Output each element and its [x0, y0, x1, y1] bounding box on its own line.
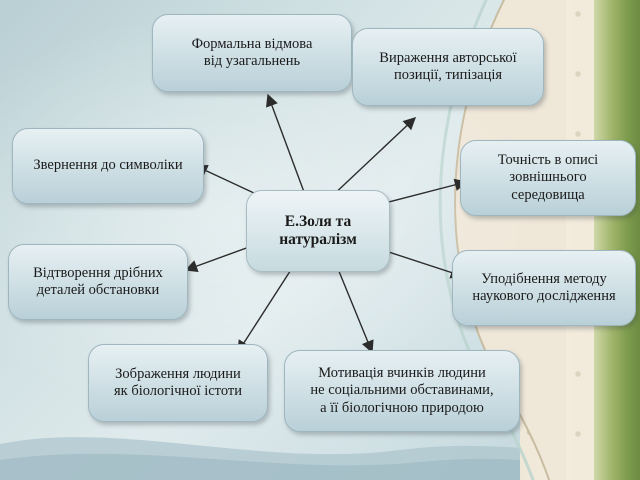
- node-vidtvorennya-dribnyh-detalej[interactable]: Відтворення дрібних деталей обстановки: [8, 244, 188, 320]
- node-label: Мотивація вчинків людини не соціальними …: [310, 365, 493, 416]
- node-formalna-vidmova[interactable]: Формальна відмова від узагальнень: [152, 14, 352, 92]
- connector-center-to-n7: [238, 262, 296, 352]
- connector-center-to-n1: [268, 95, 307, 200]
- node-label: Формальна відмова від узагальнень: [192, 36, 313, 70]
- node-label: Вираження авторської позиції, типізація: [379, 50, 516, 84]
- center-node[interactable]: Е.Золя та натуралізм: [246, 190, 390, 272]
- node-tochnist-v-opysi[interactable]: Точність в описі зовнішнього середовища: [460, 140, 636, 216]
- connector-center-to-n8: [336, 264, 372, 352]
- node-label: Точність в описі зовнішнього середовища: [471, 152, 625, 203]
- node-zvernennya-do-symvoliky[interactable]: Звернення до символіки: [12, 128, 204, 204]
- node-upodibnennya-metodu[interactable]: Уподібнення методу наукового дослідження: [452, 250, 636, 326]
- node-label: Звернення до символіки: [33, 157, 182, 174]
- node-label: Зображення людини як біологічної істоти: [114, 366, 242, 400]
- center-node-label: Е.Золя та натуралізм: [279, 213, 357, 250]
- node-motyvaciya-vchynkiv[interactable]: Мотивація вчинків людини не соціальними …: [284, 350, 520, 432]
- node-virazhennya-avtorskoyi-poziciyi[interactable]: Вираження авторської позиції, типізація: [352, 28, 544, 106]
- node-label: Уподібнення методу наукового дослідження: [472, 271, 615, 305]
- connector-center-to-n2: [330, 118, 415, 198]
- slide-canvas: Е.Золя та натуралізм Формальна відмова в…: [0, 0, 640, 480]
- node-zobrazhennya-ludyny[interactable]: Зображення людини як біологічної істоти: [88, 344, 268, 422]
- node-label: Відтворення дрібних деталей обстановки: [33, 265, 163, 299]
